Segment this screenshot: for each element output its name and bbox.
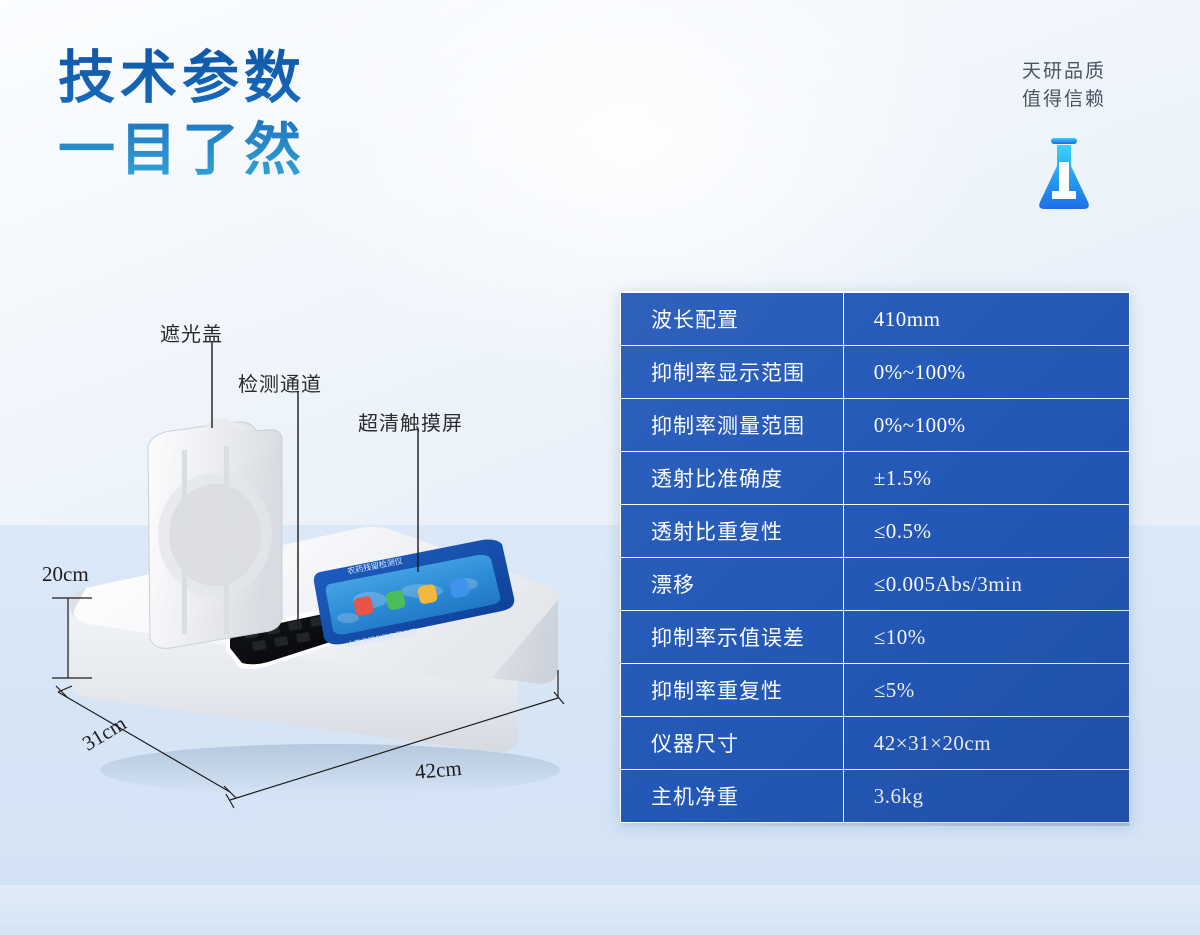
brand-slogan-line-2: 值得信赖 xyxy=(984,86,1144,114)
page-title-line-1: 技术参数 xyxy=(58,42,306,114)
spec-row-value: ≤5% xyxy=(843,664,1129,717)
spec-row-key: 抑制率显示范围 xyxy=(621,346,844,399)
brand-slogan: 天研品质 值得信赖 xyxy=(984,58,1144,212)
spec-row-key: 抑制率重复性 xyxy=(621,664,844,717)
spec-row-value: ≤0.5% xyxy=(843,505,1129,558)
callout-label-detection-channel: 检测通道 xyxy=(238,368,322,397)
spec-row: 波长配置410mm xyxy=(621,292,1130,346)
background-band-bottom xyxy=(0,885,1200,935)
spec-row-value: 42×31×20cm xyxy=(843,717,1129,770)
brand-slogan-line-1: 天研品质 xyxy=(984,58,1144,86)
spec-row-key: 透射比准确度 xyxy=(621,452,844,505)
lid-rib-right-bottom xyxy=(224,558,229,634)
lid-rib-left-top xyxy=(182,450,187,522)
spec-row-key: 抑制率测量范围 xyxy=(621,399,844,452)
spec-row-key: 漂移 xyxy=(621,558,844,611)
spec-row: 抑制率显示范围0%~100% xyxy=(621,346,1130,399)
spec-row: 仪器尺寸42×31×20cm xyxy=(621,717,1130,770)
spec-row: 透射比准确度±1.5% xyxy=(621,452,1130,505)
spec-row-value: ≤10% xyxy=(843,611,1129,664)
lid-rib-right-top xyxy=(224,446,229,522)
flask-icon xyxy=(1033,136,1095,212)
spec-row-value: 0%~100% xyxy=(843,399,1129,452)
spec-row-value: 0%~100% xyxy=(843,346,1129,399)
spec-row: 主机净重3.6kg xyxy=(621,770,1130,823)
spec-row-key: 抑制率示值误差 xyxy=(621,611,844,664)
lid-rib-left-bottom xyxy=(182,562,187,634)
technical-parameters-page: 技术参数 一目了然 天研品质 值得信赖 xyxy=(0,0,1200,935)
spec-row-key: 波长配置 xyxy=(621,292,844,346)
spec-row: 漂移≤0.005Abs/3min xyxy=(621,558,1130,611)
page-title: 技术参数 一目了然 xyxy=(58,42,306,186)
spec-row: 抑制率示值误差≤10% xyxy=(621,611,1130,664)
specification-table-body: 波长配置410mm抑制率显示范围0%~100%抑制率测量范围0%~100%透射比… xyxy=(621,292,1130,823)
specification-table: 波长配置410mm抑制率显示范围0%~100%抑制率测量范围0%~100%透射比… xyxy=(620,291,1130,823)
spec-row: 抑制率重复性≤5% xyxy=(621,664,1130,717)
spec-row-key: 主机净重 xyxy=(621,770,844,823)
page-title-line-2: 一目了然 xyxy=(58,114,306,186)
spec-row-value: ±1.5% xyxy=(843,452,1129,505)
spec-row: 抑制率测量范围0%~100% xyxy=(621,399,1130,452)
dimension-label-width: 42cm xyxy=(414,756,463,785)
callout-label-light-shield-cover: 遮光盖 xyxy=(160,318,223,347)
spec-row-value: 3.6kg xyxy=(843,770,1129,823)
spec-row-value: ≤0.005Abs/3min xyxy=(843,558,1129,611)
spec-row: 透射比重复性≤0.5% xyxy=(621,505,1130,558)
spec-row-key: 仪器尺寸 xyxy=(621,717,844,770)
spec-row-value: 410mm xyxy=(843,292,1129,346)
dimension-label-height: 20cm xyxy=(42,562,89,587)
callout-label-hd-touchscreen: 超清触摸屏 xyxy=(358,407,463,436)
spec-row-key: 透射比重复性 xyxy=(621,505,844,558)
